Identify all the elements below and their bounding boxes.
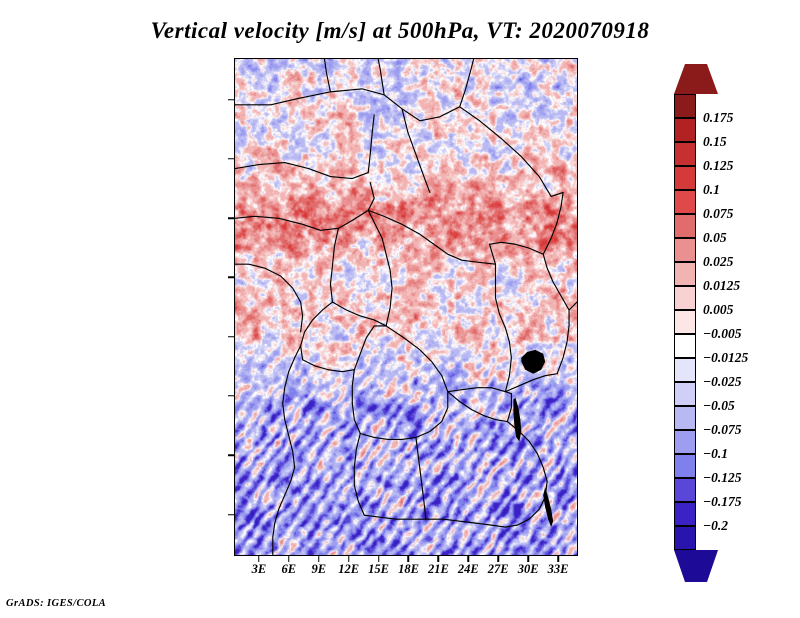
colorbar-tick-label: 0.1 [703, 182, 720, 198]
colorbar-segment [674, 142, 696, 166]
x-axis-label: 24E [458, 562, 479, 577]
colorbar-tick-label: −0.2 [703, 518, 728, 534]
x-axis-label: 15E [368, 562, 389, 577]
colorbar-segment [674, 382, 696, 406]
colorbar-segment [674, 166, 696, 190]
page-title: Vertical velocity [m/s] at 500hPa, VT: 2… [0, 18, 800, 44]
colorbar-segment [674, 118, 696, 142]
x-axis-label: 27E [488, 562, 509, 577]
x-axis-label: 9E [311, 562, 326, 577]
x-axis-label: 6E [282, 562, 297, 577]
colorbar-extend-high-arrow-icon [674, 64, 718, 94]
x-axis-tick-mark [497, 556, 499, 562]
colorbar-segment [674, 526, 696, 550]
colorbar-segment [674, 214, 696, 238]
colorbar-segment [674, 334, 696, 358]
grads-attribution: GrADS: IGES/COLA [6, 598, 106, 609]
colorbar-segment [674, 478, 696, 502]
colorbar-segment [674, 286, 696, 310]
colorbar-segment [674, 190, 696, 214]
x-axis-label: 21E [428, 562, 449, 577]
y-axis-tick-mark [228, 217, 234, 219]
colorbar-tick-label: −0.125 [703, 470, 742, 486]
x-axis-tick-mark [288, 556, 290, 562]
colorbar-extend-low-arrow-icon [674, 550, 718, 582]
x-axis-tick-mark [318, 556, 320, 562]
colorbar-segment [674, 406, 696, 430]
colorbar-tick-label: −0.075 [703, 422, 742, 438]
x-axis-tick-mark [348, 556, 350, 562]
colorbar-tick-label: −0.025 [703, 374, 742, 390]
colorbar-segment [674, 430, 696, 454]
colorbar-tick-label: 0.025 [703, 254, 733, 270]
x-axis-label: 3E [252, 562, 267, 577]
map-plot-area [234, 58, 578, 556]
x-axis-label: 18E [398, 562, 419, 577]
colorbar-segment [674, 454, 696, 478]
colorbar-tick-label: −0.0125 [703, 350, 748, 366]
colorbar-segment [674, 310, 696, 334]
y-axis-tick-mark [228, 99, 234, 101]
x-axis-tick-mark [557, 556, 559, 562]
colorbar-tick-label: −0.175 [703, 494, 742, 510]
x-axis-label: 30E [518, 562, 539, 577]
colorbar-tick-label: −0.1 [703, 446, 728, 462]
colorbar: 0.1750.150.1250.10.0750.050.0250.01250.0… [670, 58, 800, 568]
colorbar-tick-label: 0.15 [703, 134, 727, 150]
colorbar-tick-label: −0.005 [703, 326, 742, 342]
country-borders-overlay [235, 59, 577, 555]
y-axis-tick-mark [228, 336, 234, 338]
x-axis-tick-mark [378, 556, 380, 562]
y-axis-tick-mark [228, 514, 234, 516]
x-axis-tick-mark [258, 556, 260, 562]
colorbar-tick-label: 0.0125 [703, 278, 740, 294]
y-axis-tick-mark [228, 395, 234, 397]
colorbar-tick-label: −0.05 [703, 398, 735, 414]
y-axis-tick-mark [228, 454, 234, 456]
colorbar-tick-label: 0.125 [703, 158, 733, 174]
x-axis-label: 12E [338, 562, 359, 577]
x-axis-tick-mark [468, 556, 470, 562]
colorbar-segment [674, 502, 696, 526]
x-axis-tick-mark [408, 556, 410, 562]
colorbar-segment [674, 358, 696, 382]
colorbar-segment [674, 262, 696, 286]
colorbar-segment [674, 238, 696, 262]
colorbar-segment [674, 94, 696, 118]
colorbar-tick-label: 0.075 [703, 206, 733, 222]
x-axis-label: 33E [548, 562, 569, 577]
colorbar-tick-label: 0.005 [703, 302, 733, 318]
x-axis-tick-mark [527, 556, 529, 562]
x-axis-tick-mark [438, 556, 440, 562]
y-axis-tick-mark [228, 277, 234, 279]
colorbar-tick-label: 0.175 [703, 110, 733, 126]
colorbar-tick-label: 0.05 [703, 230, 727, 246]
y-axis-tick-mark [228, 158, 234, 160]
